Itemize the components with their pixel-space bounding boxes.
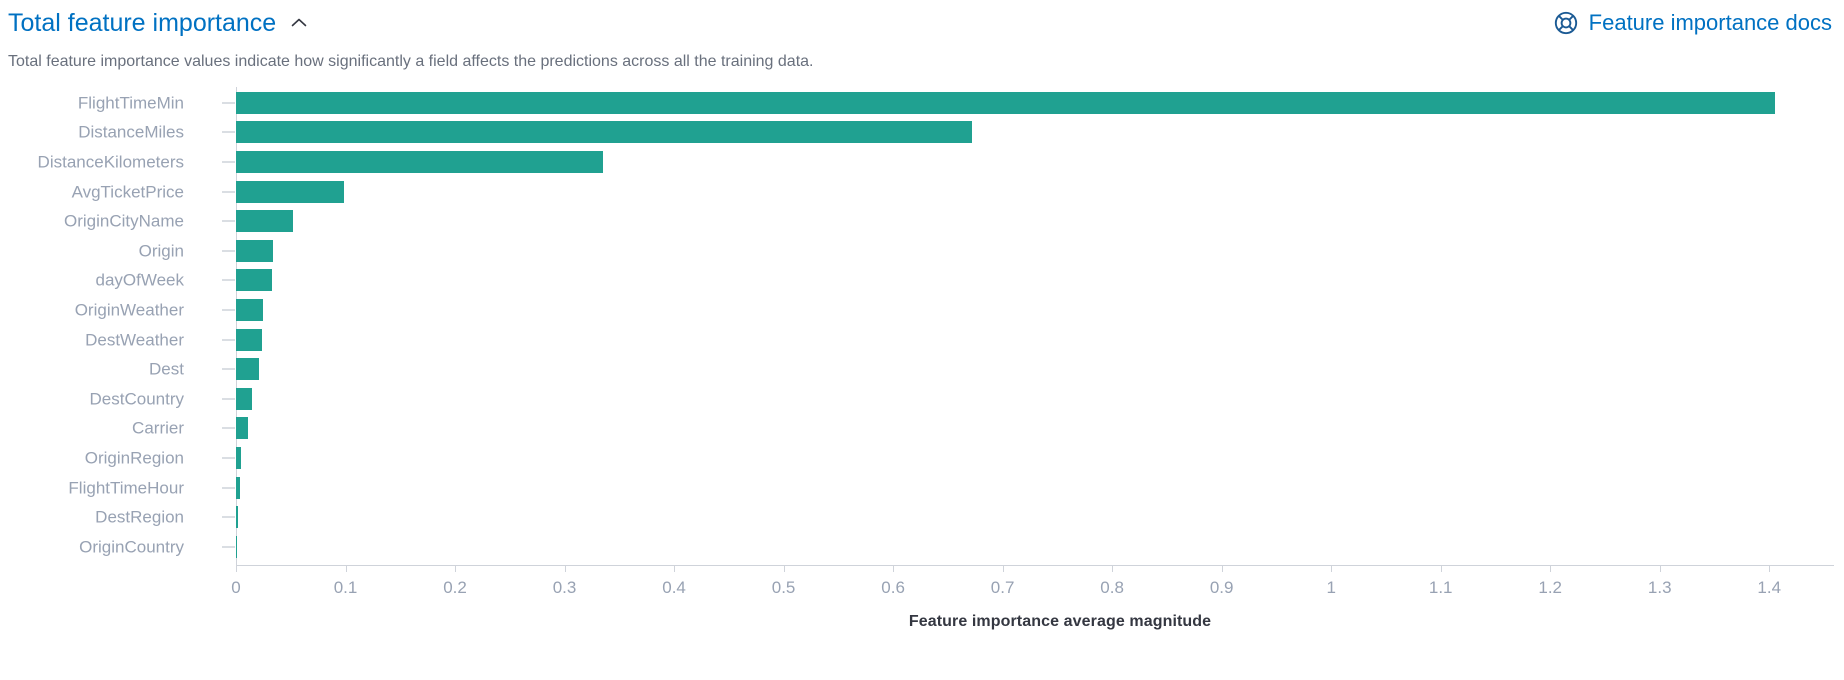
x-axis-tick-label: 0.4 bbox=[662, 579, 686, 596]
x-axis-tick-label: 0.5 bbox=[772, 579, 796, 596]
bar[interactable] bbox=[236, 299, 263, 321]
x-axis-tick-label: 0.3 bbox=[553, 579, 577, 596]
x-axis-tick-label: 1 bbox=[1326, 579, 1335, 596]
y-axis-tick bbox=[222, 428, 235, 429]
x-axis-title: Feature importance average magnitude bbox=[909, 613, 1211, 631]
chevron-up-icon[interactable] bbox=[288, 12, 310, 34]
x-axis-tick bbox=[893, 566, 894, 572]
x-axis-tick bbox=[674, 566, 675, 572]
x-axis-tick-label: 0.9 bbox=[1210, 579, 1234, 596]
y-axis-tick bbox=[222, 250, 235, 251]
y-axis-label: dayOfWeek bbox=[95, 272, 184, 289]
x-axis-tick bbox=[1441, 566, 1442, 572]
y-axis-tick bbox=[222, 221, 235, 222]
bar[interactable] bbox=[236, 417, 248, 439]
x-axis-tick-label: 0.8 bbox=[1100, 579, 1124, 596]
y-axis-label: DestCountry bbox=[90, 390, 184, 407]
bar[interactable] bbox=[236, 506, 238, 528]
bar[interactable] bbox=[236, 181, 344, 203]
x-axis-tick bbox=[1112, 566, 1113, 572]
x-axis-tick-label: 0.6 bbox=[881, 579, 905, 596]
y-axis-label: DistanceKilometers bbox=[38, 153, 184, 170]
feature-importance-chart: FlightTimeMinDistanceMilesDistanceKilome… bbox=[0, 91, 1844, 651]
x-axis-tick bbox=[236, 566, 237, 572]
y-axis-label: Dest bbox=[149, 361, 184, 378]
bar[interactable] bbox=[236, 388, 252, 410]
y-axis-label: OriginCountry bbox=[79, 538, 184, 555]
y-axis-label: Carrier bbox=[132, 420, 184, 437]
x-axis-tick-label: 0.7 bbox=[991, 579, 1015, 596]
x-axis-tick-label: 1.4 bbox=[1757, 579, 1781, 596]
y-axis-label: AvgTicketPrice bbox=[72, 183, 184, 200]
x-axis-tick bbox=[1550, 566, 1551, 572]
x-axis-tick-label: 0.2 bbox=[443, 579, 467, 596]
bar[interactable] bbox=[236, 92, 1775, 114]
x-axis-tick-label: 0 bbox=[231, 579, 240, 596]
feature-importance-docs-link[interactable]: Feature importance docs bbox=[1553, 10, 1836, 36]
bar[interactable] bbox=[236, 447, 241, 469]
y-axis-label: FlightTimeMin bbox=[78, 94, 184, 111]
x-axis-tick bbox=[784, 566, 785, 572]
y-axis-tick bbox=[222, 457, 235, 458]
x-axis-tick-label: 1.2 bbox=[1538, 579, 1562, 596]
bar[interactable] bbox=[236, 121, 972, 143]
bar[interactable] bbox=[236, 329, 262, 351]
y-axis-tick bbox=[222, 191, 235, 192]
x-axis-tick bbox=[1222, 566, 1223, 572]
x-axis-tick bbox=[1660, 566, 1661, 572]
y-axis-label: FlightTimeHour bbox=[68, 479, 184, 496]
y-axis-tick bbox=[222, 546, 235, 547]
x-axis-tick bbox=[346, 566, 347, 572]
x-axis-tick bbox=[455, 566, 456, 572]
y-axis-tick bbox=[222, 132, 235, 133]
x-axis-line bbox=[236, 565, 1834, 566]
bar[interactable] bbox=[236, 240, 273, 262]
help-life-ring-icon bbox=[1553, 10, 1579, 36]
x-axis-tick-label: 1.3 bbox=[1648, 579, 1672, 596]
y-axis-tick bbox=[222, 369, 235, 370]
y-axis-label: Origin bbox=[139, 242, 184, 259]
x-axis-tick-label: 0.1 bbox=[334, 579, 358, 596]
panel-title-toggle[interactable]: Total feature importance bbox=[8, 11, 310, 36]
chart-plot-area: FlightTimeMinDistanceMilesDistanceKilome… bbox=[0, 91, 1844, 651]
y-axis-label: DestRegion bbox=[95, 509, 184, 526]
bar[interactable] bbox=[236, 210, 293, 232]
x-axis-tick bbox=[1331, 566, 1332, 572]
y-axis-tick bbox=[222, 161, 235, 162]
bar[interactable] bbox=[236, 536, 237, 558]
x-axis-tick bbox=[1003, 566, 1004, 572]
y-axis-tick bbox=[222, 487, 235, 488]
x-axis-tick-label: 1.1 bbox=[1429, 579, 1453, 596]
x-axis-tick bbox=[565, 566, 566, 572]
x-axis-tick bbox=[1769, 566, 1770, 572]
docs-link-label: Feature importance docs bbox=[1589, 10, 1832, 36]
y-axis-tick bbox=[222, 398, 235, 399]
bar[interactable] bbox=[236, 151, 603, 173]
y-axis-label: OriginRegion bbox=[85, 449, 184, 466]
page-title: Total feature importance bbox=[8, 11, 276, 36]
y-axis-tick bbox=[222, 102, 235, 103]
y-axis-tick bbox=[222, 309, 235, 310]
bar[interactable] bbox=[236, 477, 240, 499]
y-axis-tick bbox=[222, 339, 235, 340]
y-axis-label: DestWeather bbox=[85, 331, 184, 348]
bar[interactable] bbox=[236, 358, 259, 380]
y-axis-label: OriginCityName bbox=[64, 213, 184, 230]
panel-description: Total feature importance values indicate… bbox=[0, 40, 1844, 73]
bar[interactable] bbox=[236, 269, 272, 291]
y-axis-label: DistanceMiles bbox=[78, 124, 184, 141]
y-axis-tick bbox=[222, 517, 235, 518]
y-axis-tick bbox=[222, 280, 235, 281]
panel-header: Total feature importance Feature importa… bbox=[0, 0, 1844, 40]
y-axis-label: OriginWeather bbox=[75, 301, 184, 318]
